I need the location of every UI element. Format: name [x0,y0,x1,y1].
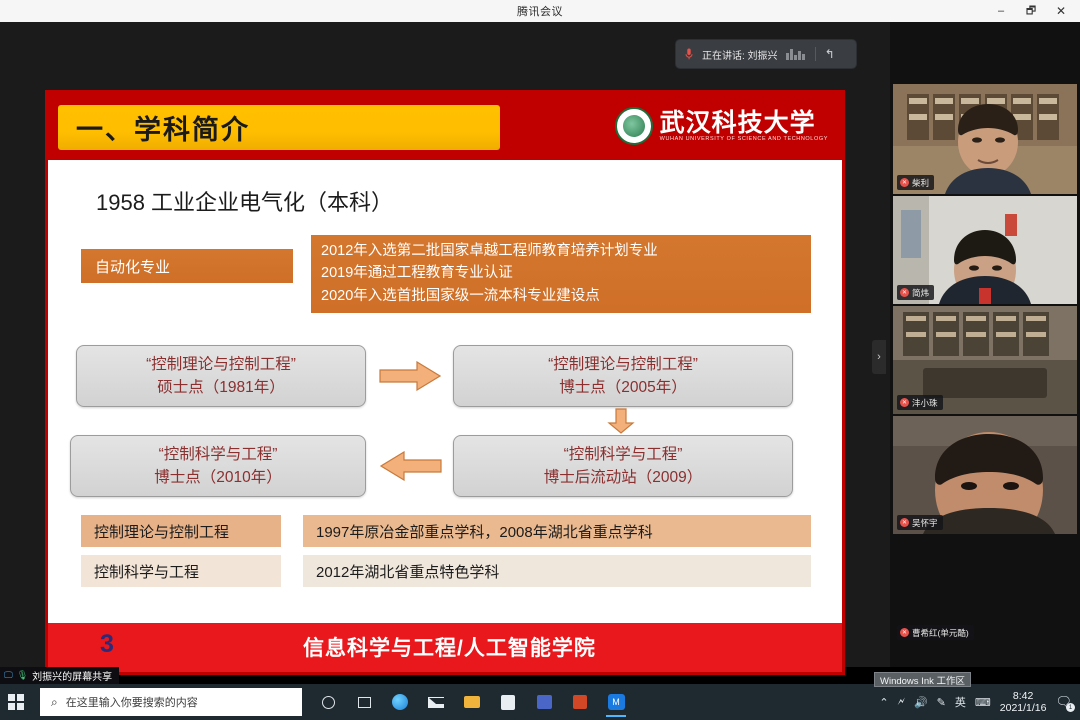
meeting-stage: 正在讲话: 刘振兴 ↰ 一、学科简介 武汉科技大学 WUHAN UNIVERSI… [0,22,890,667]
participant-tile[interactable]: ✕ 曹希红(单元酷) [893,536,1077,644]
search-icon: ⌕ [51,695,58,710]
slide-title-pill: 一、学科简介 [58,105,500,150]
discipline-name: 控制科学与工程 [81,555,281,587]
search-input[interactable]: ⌕ 在这里输入你要搜索的内容 [40,688,302,716]
window-titlebar: 腾讯会议 – 🗗 ✕ [0,0,1080,22]
achievements-box: 2012年入选第二批国家卓越工程师教育培养计划专业 2019年通过工程教育专业认… [311,235,811,313]
tencent-meeting-icon[interactable]: M [600,687,632,717]
university-names: 武汉科技大学 WUHAN UNIVERSITY OF SCIENCE AND T… [660,110,828,142]
participant-name: 简炜 [912,287,929,299]
origin-line: 1958 工业企业电气化（本科） [96,185,393,217]
arrow-right-icon [379,361,441,391]
achievement-item: 2020年入选首批国家级一流本科专业建设点 [321,286,600,307]
audio-wave-icon [786,49,805,60]
screen-share-toast: 🖵 🎙 刘振兴的屏幕共享 [0,667,119,684]
clock-date: 2021/1/16 [1000,702,1047,714]
system-tray: ⌃ 🗲 🔊 ✎ 英 ⌨ 8:42 2021/1/16 🗨 1 [879,684,1072,720]
achievement-item: 2019年通过工程教育专业认证 [321,263,513,284]
participant-nametag: ✕ 沣小珠 [897,395,943,410]
ink-workspace-tooltip: Windows Ink 工作区 [874,672,971,687]
clock-time: 8:42 [1013,690,1033,702]
teams-icon[interactable] [528,687,560,717]
window-title: 腾讯会议 [517,3,563,19]
phd-science-box: “控制科学与工程” 博士点（2010年） [70,435,366,497]
mic-muted-icon: ✕ [900,178,909,187]
volume-icon[interactable]: 🔊 [914,696,928,709]
shared-slide: 一、学科简介 武汉科技大学 WUHAN UNIVERSITY OF SCIENC… [45,90,845,675]
chevron-right-icon[interactable]: › [872,340,886,374]
participant-name: 沣小珠 [912,397,938,409]
achievement-item: 2012年入选第二批国家卓越工程师教育培养计划专业 [321,241,658,262]
university-seal-icon [615,107,653,145]
battery-icon[interactable]: 🗲 [898,696,905,709]
major-box: 自动化专业 [81,249,293,283]
participant-rail: ✕ 柴利 ✕ 简炜 [890,22,1080,667]
slide-footer: 3 信息科学与工程/人工智能学院 [48,620,842,672]
clock[interactable]: 8:42 2021/1/16 [1000,690,1047,714]
participant-name: 柴利 [912,177,929,189]
participant-name: 吴怀宇 [912,517,938,529]
divider [815,47,816,61]
footer-topline [48,620,842,623]
pen-icon[interactable]: ✎ [937,696,946,709]
ink-workspace-tooltip-text: Windows Ink 工作区 [880,673,965,687]
window-controls: – 🗗 ✕ [986,0,1076,22]
screen-share-label: 刘振兴的屏幕共享 [32,668,112,683]
participant-nametag: ✕ 曹希红(单元酷) [897,625,974,640]
mic-muted-icon: ✕ [900,398,909,407]
close-button[interactable]: ✕ [1046,0,1076,22]
tray-overflow-icon[interactable]: ⌃ [879,696,888,709]
file-explorer-icon[interactable] [456,687,488,717]
participant-nametag: ✕ 柴利 [897,175,934,190]
slide-page-number: 3 [100,630,114,659]
box-line-2: 博士点（2005年） [559,376,686,399]
arrow-left-icon [380,451,442,481]
box-line-1: “控制科学与工程” [564,443,683,466]
university-name-en: WUHAN UNIVERSITY OF SCIENCE AND TECHNOLO… [660,136,828,142]
back-arrow-icon[interactable]: ↰ [825,47,835,61]
university-logo: 武汉科技大学 WUHAN UNIVERSITY OF SCIENCE AND T… [615,107,828,145]
microsoft-store-icon[interactable] [492,687,524,717]
notification-count: 1 [1066,703,1075,712]
task-view-icon[interactable] [348,687,380,717]
participant-nametag: ✕ 吴怀宇 [897,515,943,530]
box-line-2: 博士点（2010年） [154,466,281,489]
participant-tile[interactable]: ✕ 简炜 [893,196,1077,304]
box-line-2: 博士后流动站（2009） [544,466,702,489]
university-name-cn: 武汉科技大学 [660,110,828,136]
edge-icon[interactable] [384,687,416,717]
taskbar-buttons: M [312,687,632,717]
speaking-label: 正在讲话: 刘振兴 [702,47,778,62]
microphone-icon: 🎙 [17,670,28,681]
windows-taskbar: ⌕ 在这里输入你要搜索的内容 M ⌃ 🗲 🔊 ✎ 英 ⌨ 8:42 2021/1… [0,684,1080,720]
slide-title: 一、学科简介 [76,108,250,147]
slide-body: 1958 工业企业电气化（本科） 自动化专业 2012年入选第二批国家卓越工程师… [48,163,842,620]
phd-control-box: “控制理论与控制工程” 博士点（2005年） [453,345,793,407]
participant-nametag: ✕ 简炜 [897,285,934,300]
microphone-icon [682,46,696,62]
speaking-indicator[interactable]: 正在讲话: 刘振兴 ↰ [676,40,856,68]
discipline-detail: 2012年湖北省重点特色学科 [303,555,811,587]
mic-muted-icon: ✕ [900,518,909,527]
discipline-name: 控制理论与控制工程 [81,515,281,547]
ime-language-indicator[interactable]: 英 [955,694,966,710]
mail-icon[interactable] [420,687,452,717]
arrow-down-icon [606,408,636,434]
box-line-2: 硕士点（1981年） [157,376,284,399]
search-placeholder: 在这里输入你要搜索的内容 [66,694,198,710]
box-line-1: “控制科学与工程” [159,443,278,466]
action-center-icon[interactable]: 🗨 1 [1055,694,1072,710]
participant-tile[interactable]: ✕ 柴利 [893,84,1077,194]
windows-start-icon[interactable] [4,690,28,714]
participant-name: 曹希红(单元酷) [912,627,969,639]
screen: 腾讯会议 – 🗗 ✕ 正在讲话: 刘振兴 ↰ 一、学科简介 [0,0,1080,720]
postdoc-box: “控制科学与工程” 博士后流动站（2009） [453,435,793,497]
participant-tile[interactable]: ✕ 吴怀宇 [893,416,1077,534]
maximize-button[interactable]: 🗗 [1016,0,1046,22]
ime-keyboard-icon[interactable]: ⌨ [975,696,991,709]
monitor-icon: 🖵 [4,670,13,681]
mic-muted-icon: ✕ [900,628,909,637]
powerpoint-icon[interactable] [564,687,596,717]
box-line-1: “控制理论与控制工程” [548,353,698,376]
slide-footer-text: 信息科学与工程/人工智能学院 [303,632,596,662]
cortana-icon[interactable] [312,687,344,717]
mic-muted-icon: ✕ [900,288,909,297]
slide-header: 一、学科简介 武汉科技大学 WUHAN UNIVERSITY OF SCIENC… [48,93,842,163]
discipline-detail: 1997年原冶金部重点学科，2008年湖北省重点学科 [303,515,811,547]
box-line-1: “控制理论与控制工程” [146,353,296,376]
master-program-box: “控制理论与控制工程” 硕士点（1981年） [76,345,366,407]
participant-tile[interactable]: ✕ 沣小珠 [893,306,1077,414]
minimize-button[interactable]: – [986,0,1016,22]
